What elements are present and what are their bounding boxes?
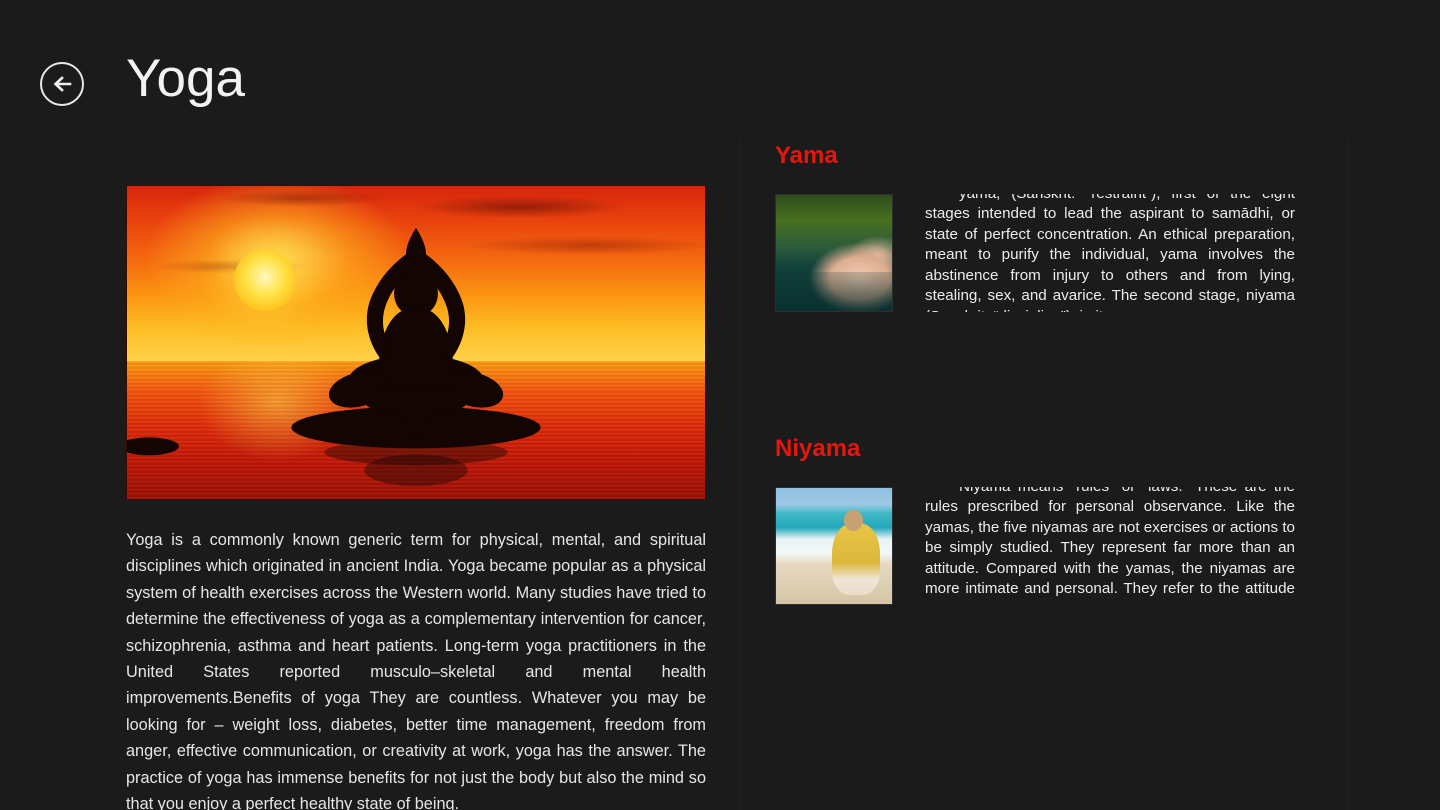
column-divider-2 [1348, 140, 1349, 810]
column-divider-1 [740, 140, 741, 810]
niyama-figure [832, 523, 881, 595]
section-title-yama[interactable]: Yama [775, 144, 1295, 168]
niyama-head [844, 510, 863, 531]
back-button[interactable] [40, 62, 84, 106]
section-text-yama: yama, (Sanskrit: “restraint”), first of … [925, 194, 1295, 312]
app-header: Yoga [0, 0, 1440, 140]
hero-description: Yoga is a commonly known generic term fo… [126, 527, 706, 810]
section-title-niyama[interactable]: Niyama [775, 437, 1295, 461]
yama-thumbnail[interactable] [775, 194, 893, 312]
section-body-yama: yama, (Sanskrit: “restraint”), first of … [775, 194, 1295, 312]
section-niyama: Niyama Niyama means "rules" or "laws." T… [775, 437, 1295, 605]
page-title: Yoga [126, 52, 245, 105]
yoga-silhouette [127, 186, 705, 499]
hero-panel: Yoga is a commonly known generic term fo… [126, 185, 706, 810]
section-yama: Yama yama, (Sanskrit: “restraint”), firs… [775, 144, 1295, 312]
section-body-niyama: Niyama means "rules" or "laws." These ar… [775, 487, 1295, 605]
niyama-thumbnail[interactable] [775, 487, 893, 605]
hero-image[interactable] [126, 185, 706, 500]
yoga-app-window: Yoga [0, 0, 1440, 810]
content-area: Yoga is a commonly known generic term fo… [0, 140, 1440, 810]
section-text-niyama: Niyama means "rules" or "laws." These ar… [925, 487, 1295, 605]
back-arrow-icon [50, 72, 74, 96]
